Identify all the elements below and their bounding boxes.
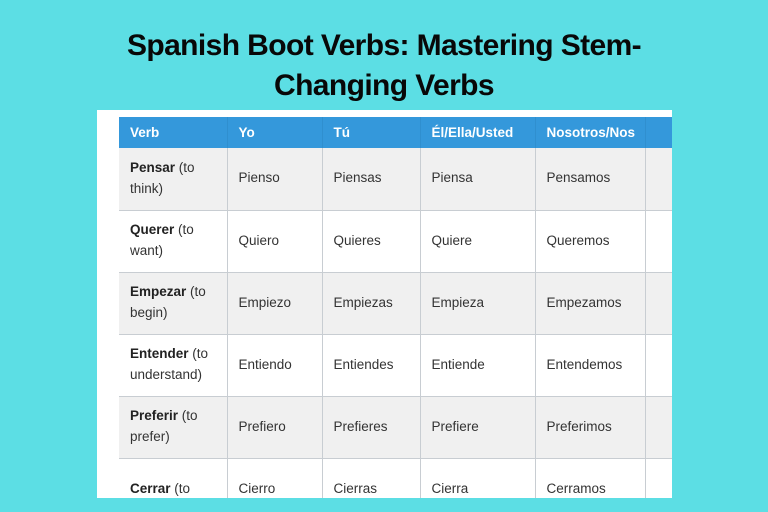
column-header-tu[interactable]: Tú bbox=[322, 117, 420, 148]
table-row: Pensar (to think) Pienso Piensas Piensa … bbox=[119, 148, 672, 210]
cell-overflow bbox=[645, 210, 672, 272]
cell-yo: Pienso bbox=[227, 148, 322, 210]
table-row: Cerrar (to Cierro Cierras Cierra Cerramo… bbox=[119, 458, 672, 498]
cell-verb: Preferir (to prefer) bbox=[119, 396, 227, 458]
cell-nosotros: Preferimos bbox=[535, 396, 645, 458]
table-row: Preferir (to prefer) Prefiero Prefieres … bbox=[119, 396, 672, 458]
verb-name: Preferir bbox=[130, 408, 178, 423]
content-card: Verb Yo Tú Él/Ella/Usted Nosotros/Nos Pe… bbox=[97, 110, 672, 498]
column-header-overflow bbox=[645, 117, 672, 148]
table-header-row: Verb Yo Tú Él/Ella/Usted Nosotros/Nos bbox=[119, 117, 672, 148]
cell-yo: Prefiero bbox=[227, 396, 322, 458]
column-header-verb[interactable]: Verb bbox=[119, 117, 227, 148]
cell-tu: Entiendes bbox=[322, 334, 420, 396]
table-row: Querer (to want) Quiero Quieres Quiere Q… bbox=[119, 210, 672, 272]
cell-el: Empieza bbox=[420, 272, 535, 334]
table-body: Pensar (to think) Pienso Piensas Piensa … bbox=[119, 148, 672, 498]
cell-tu: Empiezas bbox=[322, 272, 420, 334]
cell-yo: Entiendo bbox=[227, 334, 322, 396]
cell-verb: Pensar (to think) bbox=[119, 148, 227, 210]
cell-yo: Empiezo bbox=[227, 272, 322, 334]
page-title: Spanish Boot Verbs: Mastering Stem-Chang… bbox=[64, 26, 704, 106]
table-scroll-container[interactable]: Verb Yo Tú Él/Ella/Usted Nosotros/Nos Pe… bbox=[119, 117, 672, 498]
verb-name: Pensar bbox=[130, 160, 175, 175]
column-header-el-ella-usted[interactable]: Él/Ella/Usted bbox=[420, 117, 535, 148]
verb-conjugation-table: Verb Yo Tú Él/Ella/Usted Nosotros/Nos Pe… bbox=[119, 117, 672, 498]
cell-el: Prefiere bbox=[420, 396, 535, 458]
cell-overflow bbox=[645, 458, 672, 498]
cell-verb: Empezar (to begin) bbox=[119, 272, 227, 334]
verb-name: Empezar bbox=[130, 284, 186, 299]
cell-nosotros: Pensamos bbox=[535, 148, 645, 210]
cell-tu: Prefieres bbox=[322, 396, 420, 458]
verb-name: Cerrar bbox=[130, 481, 171, 496]
cell-el: Quiere bbox=[420, 210, 535, 272]
cell-overflow bbox=[645, 272, 672, 334]
table-row: Empezar (to begin) Empiezo Empiezas Empi… bbox=[119, 272, 672, 334]
cell-overflow bbox=[645, 334, 672, 396]
table-row: Entender (to understand) Entiendo Entien… bbox=[119, 334, 672, 396]
cell-el: Entiende bbox=[420, 334, 535, 396]
cell-overflow bbox=[645, 396, 672, 458]
cell-tu: Piensas bbox=[322, 148, 420, 210]
cell-verb: Entender (to understand) bbox=[119, 334, 227, 396]
verb-gloss: (to bbox=[174, 481, 190, 496]
cell-tu: Quieres bbox=[322, 210, 420, 272]
verb-name: Querer bbox=[130, 222, 174, 237]
column-header-nosotros[interactable]: Nosotros/Nos bbox=[535, 117, 645, 148]
cell-overflow bbox=[645, 148, 672, 210]
cell-el: Piensa bbox=[420, 148, 535, 210]
cell-nosotros: Cerramos bbox=[535, 458, 645, 498]
cell-nosotros: Empezamos bbox=[535, 272, 645, 334]
verb-name: Entender bbox=[130, 346, 189, 361]
column-header-yo[interactable]: Yo bbox=[227, 117, 322, 148]
cell-verb: Querer (to want) bbox=[119, 210, 227, 272]
cell-yo: Quiero bbox=[227, 210, 322, 272]
cell-nosotros: Entendemos bbox=[535, 334, 645, 396]
cell-nosotros: Queremos bbox=[535, 210, 645, 272]
cell-verb: Cerrar (to bbox=[119, 458, 227, 498]
cell-tu: Cierras bbox=[322, 458, 420, 498]
cell-yo: Cierro bbox=[227, 458, 322, 498]
cell-el: Cierra bbox=[420, 458, 535, 498]
table-header: Verb Yo Tú Él/Ella/Usted Nosotros/Nos bbox=[119, 117, 672, 148]
